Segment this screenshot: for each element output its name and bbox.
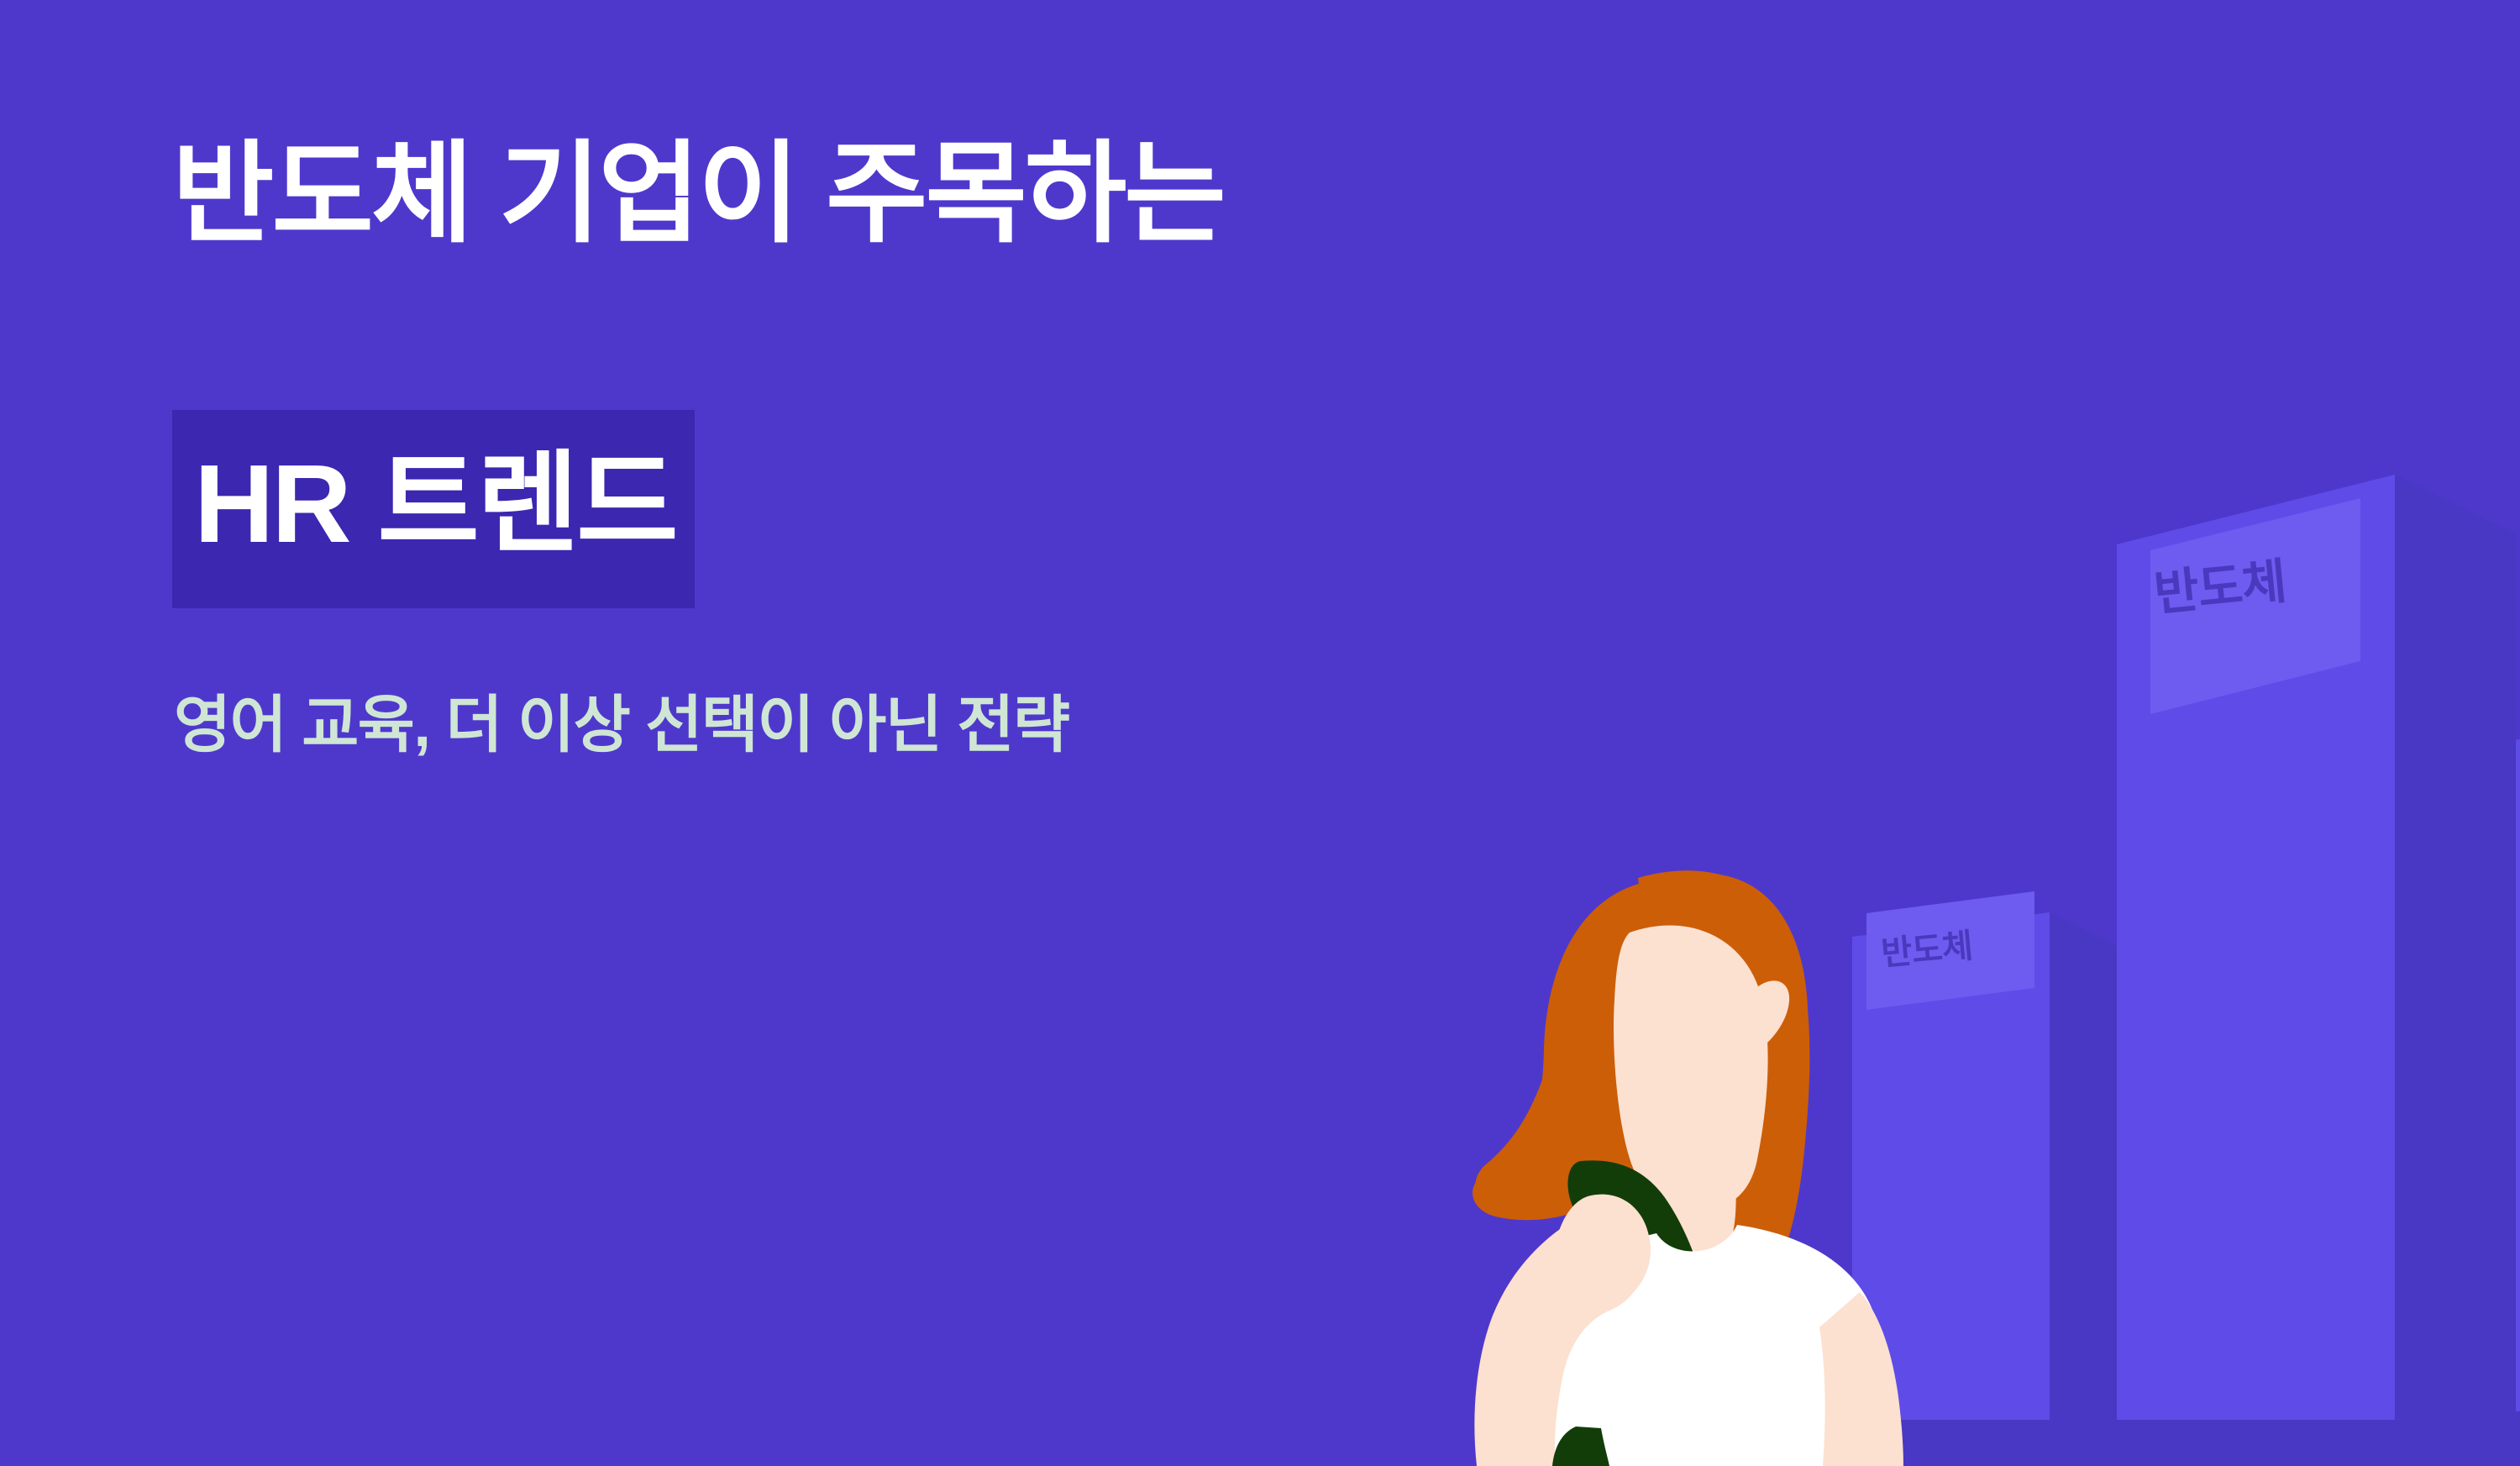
background-city-scene — [0, 0, 2520, 1466]
tall-building-sign-text: 반도체 — [2152, 558, 2288, 619]
right-arm — [1819, 1292, 1903, 1466]
short-building-side — [2050, 912, 2117, 1420]
student-illustration — [1428, 840, 1949, 1466]
hr-trend-banner: 반도체 반도체 반도체 기업이 주목하는 HR 트렌드 — [0, 0, 2520, 1466]
tall-building-side — [2395, 475, 2516, 1420]
